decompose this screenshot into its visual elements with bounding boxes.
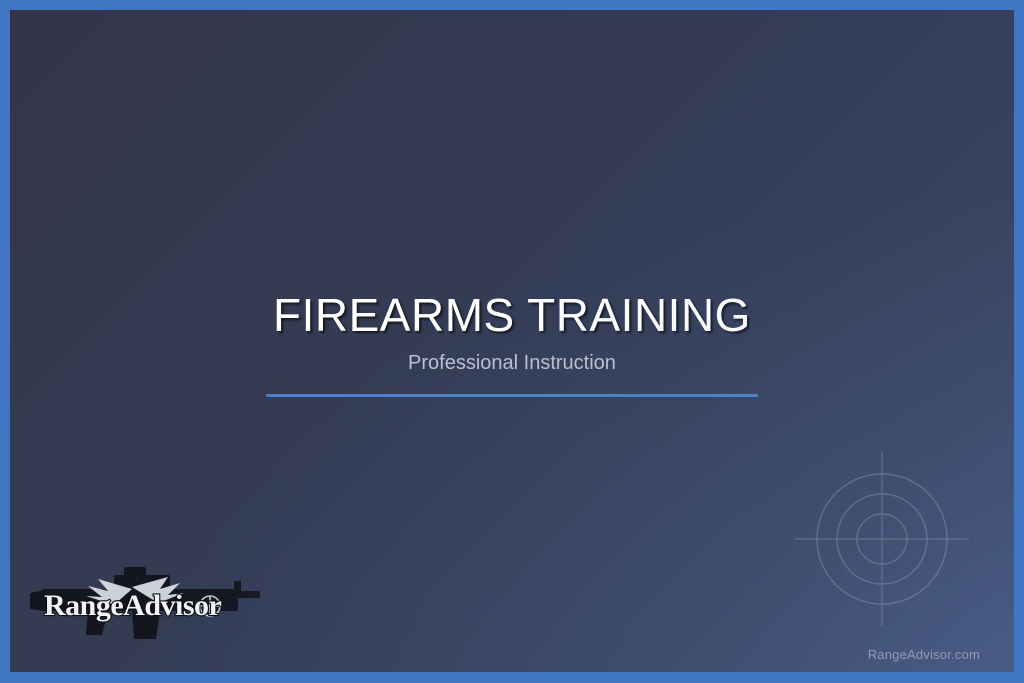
- brand-logo: RangeAdvisor: [28, 559, 268, 639]
- page-subtitle: Professional Instruction: [10, 351, 1014, 375]
- page-title: FIREARMS TRAINING: [10, 291, 1014, 339]
- title-slide: FIREARMS TRAINING Professional Instructi…: [0, 0, 1024, 683]
- accent-divider: [266, 394, 758, 397]
- logo-wordmark: RangeAdvisor: [44, 589, 222, 622]
- target-crosshair-icon: [787, 444, 977, 634]
- logo-reticle-icon: [200, 596, 220, 616]
- logo-wing-flourish-icon: [86, 577, 184, 605]
- title-block: FIREARMS TRAINING Professional Instructi…: [10, 291, 1014, 397]
- slide-canvas: FIREARMS TRAINING Professional Instructi…: [10, 10, 1014, 672]
- rifle-silhouette-icon: [30, 567, 260, 639]
- footer-url: RangeAdvisor.com: [868, 647, 980, 662]
